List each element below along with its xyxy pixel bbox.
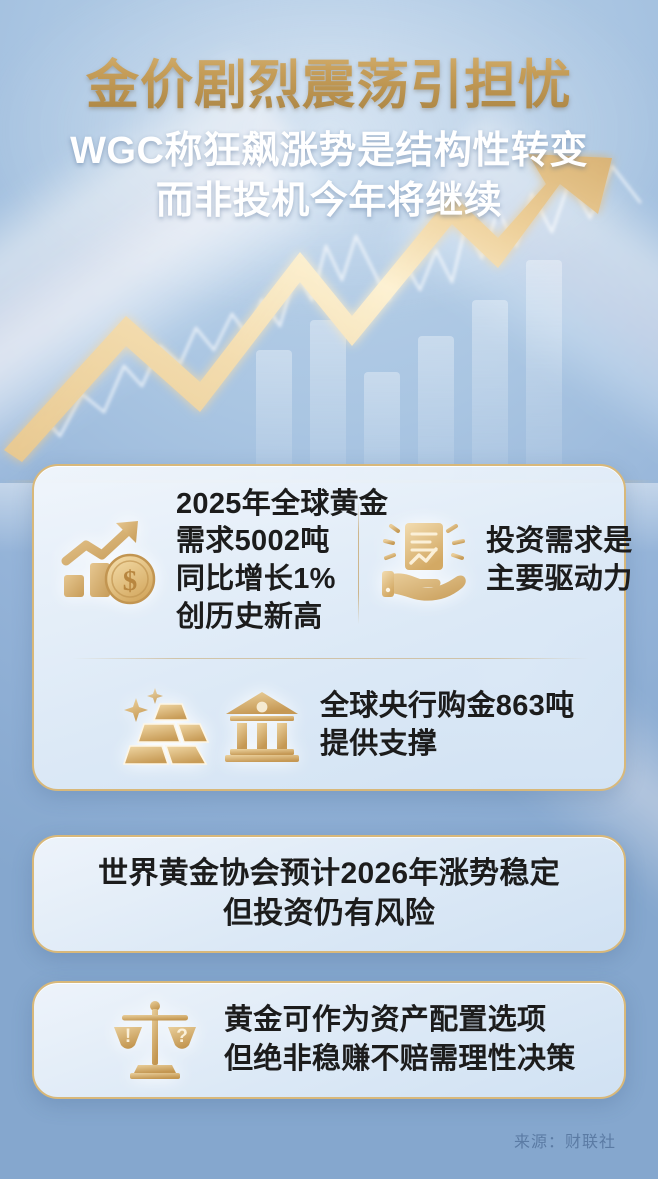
growth-chart-dollar-icon: $ bbox=[56, 509, 160, 613]
stat-central-bank-line-2: 提供支撑 bbox=[320, 726, 574, 764]
header: 金价剧烈震荡引担忧 WGC称狂飙涨势是结构性转变 而非投机今年将继续 bbox=[0, 0, 658, 226]
hand-holding-document-icon bbox=[378, 515, 470, 607]
svg-text:!: ! bbox=[125, 1026, 131, 1047]
page-title: 金价剧烈震荡引担忧 bbox=[0, 0, 658, 115]
stat-investment-line-2: 主要驱动力 bbox=[486, 561, 633, 599]
stat-central-bank: 全球央行购金863吨 提供支撑 bbox=[34, 658, 624, 793]
stat-investment: 投资需求是 主要驱动力 bbox=[356, 466, 633, 656]
stat-central-bank-line-1: 全球央行购金863吨 bbox=[320, 688, 574, 726]
subtitle-line-2: 而非投机今年将继续 bbox=[0, 177, 658, 226]
main-stats-card: $ 2025年全球黄金 需求5002吨 同比增长1% 创历史新高 bbox=[32, 464, 626, 791]
main-card-top-row: $ 2025年全球黄金 需求5002吨 同比增长1% 创历史新高 bbox=[34, 466, 624, 656]
forecast-line-1: 世界黄金协会预计2026年涨势稳定 bbox=[98, 854, 560, 894]
svg-text:$: $ bbox=[123, 565, 138, 597]
svg-text:?: ? bbox=[176, 1026, 188, 1047]
forecast-line-2: 但投资仍有风险 bbox=[98, 894, 560, 934]
advice-line-1: 黄金可作为资产配置选项 bbox=[224, 1001, 576, 1040]
forecast-card: 世界黄金协会预计2026年涨势稳定 但投资仍有风险 bbox=[32, 835, 626, 953]
forecast-text: 世界黄金协会预计2026年涨势稳定 但投资仍有风险 bbox=[98, 854, 560, 934]
card-vertical-divider bbox=[358, 502, 359, 624]
advice-text: 黄金可作为资产配置选项 但绝非稳赚不赔需理性决策 bbox=[224, 1001, 576, 1079]
bank-building-icon bbox=[222, 686, 302, 766]
subtitle-line-1: WGC称狂飙涨势是结构性转变 bbox=[0, 127, 658, 176]
stat-central-bank-text: 全球央行购金863吨 提供支撑 bbox=[320, 688, 574, 763]
source-attribution: 来源：财联社 bbox=[514, 1128, 616, 1152]
balance-scales-icon: ! ? bbox=[112, 997, 198, 1083]
stat-investment-line-1: 投资需求是 bbox=[486, 523, 633, 561]
advice-card: ! ? 黄金可作为资产配置选项 但绝非稳赚不赔需理性决策 bbox=[32, 981, 626, 1099]
stat-demand: $ 2025年全球黄金 需求5002吨 同比增长1% 创历史新高 bbox=[34, 466, 356, 656]
advice-line-2: 但绝非稳赚不赔需理性决策 bbox=[224, 1040, 576, 1079]
gold-bars-icon bbox=[122, 684, 214, 768]
stat-investment-text: 投资需求是 主要驱动力 bbox=[486, 523, 633, 598]
